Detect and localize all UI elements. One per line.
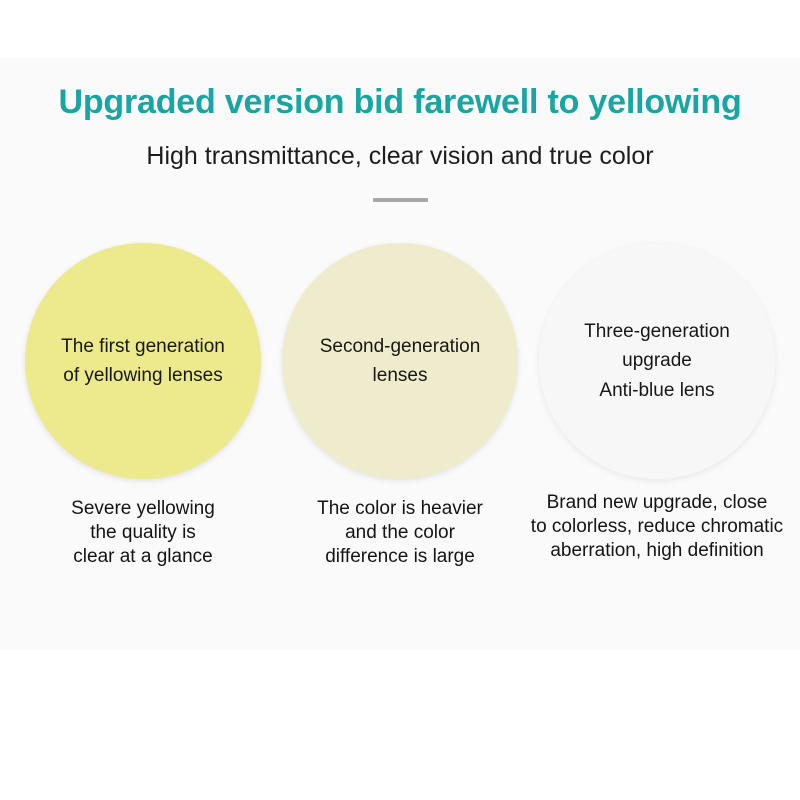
page-title: Upgraded version bid farewell to yellowi…	[0, 83, 800, 122]
lens-caption: Severe yellowing the quality is clear at…	[12, 497, 274, 569]
lens-circle-label: Second-generation lenses	[306, 332, 495, 391]
lens-comparison-group: The first generation of yellowing lenses…	[0, 243, 800, 588]
lens-circle-label: The first generation of yellowing lenses	[47, 332, 239, 391]
lens-circle-label: Three-generation upgrade Anti-blue lens	[570, 317, 744, 405]
lens-column-second-generation: Second-generation lenses The color is he…	[269, 243, 531, 569]
page-subtitle: High transmittance, clear vision and tru…	[0, 141, 800, 171]
section-divider	[373, 198, 428, 202]
lens-column-third-generation: Three-generation upgrade Anti-blue lens …	[526, 243, 788, 563]
lens-circle-first-generation: The first generation of yellowing lenses	[25, 243, 261, 479]
promo-banner: Upgraded version bid farewell to yellowi…	[0, 0, 800, 800]
lens-circle-third-generation: Three-generation upgrade Anti-blue lens	[539, 243, 775, 479]
lens-caption: The color is heavier and the color diffe…	[269, 497, 531, 569]
lens-caption: Brand new upgrade, close to colorless, r…	[519, 491, 795, 563]
lens-circle-second-generation: Second-generation lenses	[282, 243, 518, 479]
lens-column-first-generation: The first generation of yellowing lenses…	[12, 243, 274, 569]
